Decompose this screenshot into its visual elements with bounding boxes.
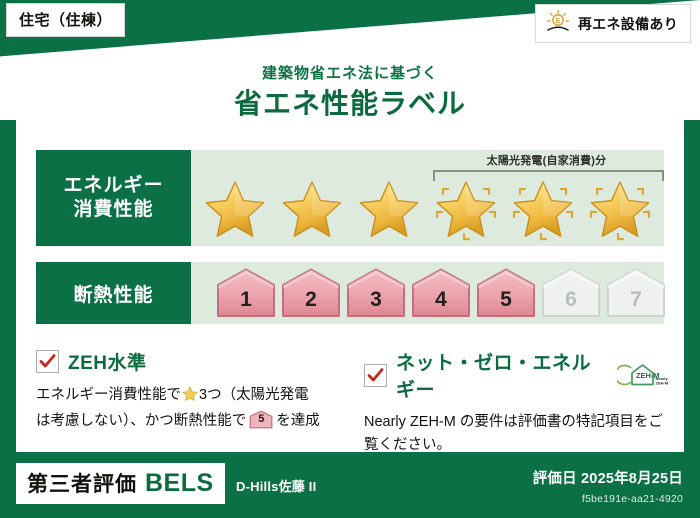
category-tab-label: 住宅（住棟） xyxy=(19,12,112,29)
svg-text:ZEH-M: ZEH-M xyxy=(656,381,669,386)
zeh-desc-part2: は考慮しない）、かつ断熱性能で xyxy=(36,413,246,429)
insulation-level-value: 4 xyxy=(410,288,472,312)
zeh-standard-checkbox xyxy=(36,350,59,373)
label-subtitle: 建築物省エネ法に基づく xyxy=(0,62,700,83)
insulation-level-badge: 7 xyxy=(605,267,667,319)
svg-text:E: E xyxy=(556,18,561,25)
evaluation-date: 評価日 2025年8月25日 xyxy=(533,467,683,488)
net-zero-energy-section: ネット・ゼロ・エネルギー ZEH-M Nearly ZEH-M Nearly Z… xyxy=(364,348,669,458)
insulation-level-value: 5 xyxy=(475,288,537,312)
bels-jp-label: 第三者評価 xyxy=(27,468,137,498)
energy-performance-label: エネルギー 消費性能 xyxy=(36,150,191,246)
evaluation-id: f5be191e-aa21-4920 xyxy=(582,493,683,505)
energy-star xyxy=(434,179,498,241)
insulation-level-badge: 3 xyxy=(345,267,407,319)
inline-star-icon xyxy=(182,386,198,410)
insulation-performance-label: 断熱性能 xyxy=(36,262,191,324)
energy-star-rating xyxy=(191,176,664,244)
energy-stars-panel: 太陽光発電(自家消費)分 xyxy=(191,150,664,246)
insulation-level-list: 1 2 3 xyxy=(191,262,664,324)
zeh-standard-title: ZEH水準 xyxy=(68,348,147,375)
net-zero-heading: ネット・ゼロ・エネルギー ZEH-M Nearly ZEH-M xyxy=(364,348,669,402)
insulation-level-badge: 2 xyxy=(280,267,342,319)
label-title: 省エネ性能ラベル xyxy=(0,82,700,122)
inline-insulation-badge: 5 xyxy=(249,410,273,429)
check-icon xyxy=(367,367,384,384)
renewable-equipment-badge: E 再エネ設備あり xyxy=(535,4,691,43)
insulation-label-text: 断熱性能 xyxy=(73,280,153,307)
insulation-level-badge: 6 xyxy=(540,267,602,319)
energy-label-line1: エネルギー xyxy=(63,174,163,198)
energy-star xyxy=(203,179,267,241)
building-name: D-Hills佐藤 II xyxy=(236,476,316,495)
energy-star xyxy=(280,179,344,241)
bels-third-party-badge: 第三者評価 BELS xyxy=(16,463,225,504)
insulation-level-value: 1 xyxy=(215,288,277,312)
energy-star xyxy=(357,179,421,241)
zeh-standard-heading: ZEH水準 xyxy=(36,348,356,375)
insulation-level-badge: 4 xyxy=(410,267,472,319)
insulation-levels-panel: 1 2 3 xyxy=(191,262,664,324)
bels-energy-label: 住宅（住棟） E 再エネ設備あり 建築物省エネ法に基づく 省エネ性能ラベル xyxy=(0,0,700,518)
energy-label-line2: 消費性能 xyxy=(73,198,153,222)
category-tab: 住宅（住棟） xyxy=(6,3,125,37)
insulation-level-value: 7 xyxy=(605,288,667,312)
energy-star xyxy=(511,179,575,241)
energy-performance-row: エネルギー 消費性能 太陽光発電(自家消費)分 xyxy=(36,150,664,246)
net-zero-description: Nearly ZEH-M の要件は評価書の特記項目をご覧ください。 xyxy=(364,411,669,458)
bels-en-label: BELS xyxy=(145,469,214,498)
insulation-level-badge: 1 xyxy=(215,267,277,319)
energy-star xyxy=(588,179,652,241)
zeh-standard-section: ZEH水準 エネルギー消費性能で3つ（太陽光発電は考慮しない）、かつ断熱性能で5… xyxy=(36,348,356,434)
insulation-level-value: 6 xyxy=(540,288,602,312)
zeh-standard-description: エネルギー消費性能で3つ（太陽光発電は考慮しない）、かつ断熱性能で5を達成 xyxy=(36,384,356,434)
inline-badge-value: 5 xyxy=(249,411,273,429)
renewable-badge-label: 再エネ設備あり xyxy=(578,14,678,34)
check-icon xyxy=(39,353,56,370)
net-zero-checkbox xyxy=(364,364,387,387)
insulation-performance-row: 断熱性能 1 2 xyxy=(36,262,664,324)
insulation-level-value: 2 xyxy=(280,288,342,312)
net-zero-title: ネット・ゼロ・エネルギー xyxy=(396,348,602,402)
zeh-desc-part1: エネルギー消費性能で xyxy=(36,387,181,403)
solar-sun-icon: E xyxy=(545,9,571,38)
insulation-level-badge: 5 xyxy=(475,267,537,319)
zeh-desc-part3: を達成 xyxy=(276,413,320,429)
zeh-m-logo: ZEH-M Nearly ZEH-M xyxy=(617,361,669,389)
insulation-level-value: 3 xyxy=(345,288,407,312)
zeh-desc-starcount: 3つ（太陽光発電 xyxy=(199,387,309,403)
solar-bracket-caption: 太陽光発電(自家消費)分 xyxy=(439,152,654,168)
